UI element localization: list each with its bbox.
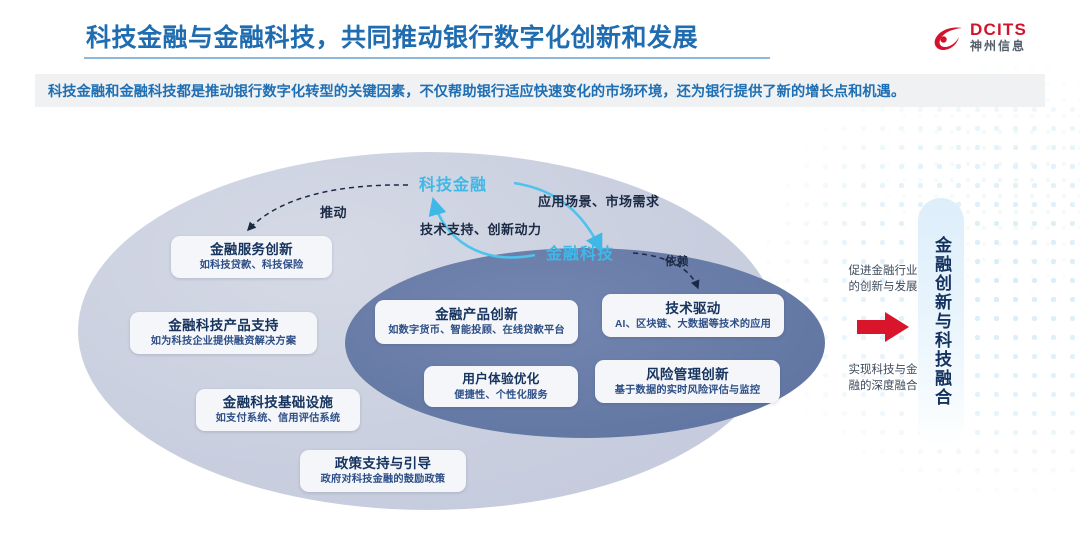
card-subtitle: 如科技贷款、科技保险 bbox=[200, 259, 304, 273]
label-tech-finance: 科技金融 bbox=[419, 171, 487, 195]
card-subtitle: 政府对科技金融的鼓励政策 bbox=[321, 473, 446, 487]
logo-text: DCITS 神州信息 bbox=[970, 20, 1027, 54]
note-promote-innovation: 促进金融行业 的创新与发展 bbox=[840, 263, 926, 295]
red-arrow-icon bbox=[855, 310, 911, 344]
card-title: 用户体验优化 bbox=[462, 371, 539, 388]
vertical-title-fusion: 金融创新与科技融合 bbox=[926, 236, 956, 407]
card-policy-support[interactable]: 政策支持与引导 政府对科技金融的鼓励政策 bbox=[300, 450, 466, 492]
card-subtitle: 如数字货币、智能投顾、在线贷款平台 bbox=[388, 324, 565, 338]
card-subtitle: 如为科技企业提供融资解决方案 bbox=[151, 335, 296, 349]
label-push: 推动 bbox=[320, 202, 347, 221]
card-title: 金融服务创新 bbox=[210, 241, 293, 258]
subtitle-text: 科技金融和金融科技都是推动银行数字化转型的关键因素，不仅帮助银行适应快速变化的市… bbox=[48, 81, 1038, 101]
card-fintech-infrastructure[interactable]: 金融科技基础设施 如支付系统、信用评估系统 bbox=[196, 389, 360, 431]
card-financial-service-innovation[interactable]: 金融服务创新 如科技贷款、科技保险 bbox=[171, 236, 332, 278]
card-title: 金融科技产品支持 bbox=[168, 317, 278, 334]
card-financial-product-innovation[interactable]: 金融产品创新 如数字货币、智能投顾、在线贷款平台 bbox=[375, 300, 578, 344]
card-title: 技术驱动 bbox=[665, 300, 720, 317]
card-fintech-product-support[interactable]: 金融科技产品支持 如为科技企业提供融资解决方案 bbox=[130, 312, 317, 354]
label-fintech: 金融科技 bbox=[546, 240, 614, 264]
label-tech-support: 技术支持、创新动力 bbox=[420, 219, 542, 238]
card-title: 风险管理创新 bbox=[646, 366, 729, 383]
card-risk-management-innovation[interactable]: 风险管理创新 基于数据的实时风险评估与监控 bbox=[595, 360, 780, 403]
card-title: 金融产品创新 bbox=[435, 306, 518, 323]
note-deep-integration: 实现科技与金 融的深度融合 bbox=[840, 362, 926, 394]
card-subtitle: AI、区块链、大数据等技术的应用 bbox=[615, 318, 771, 332]
card-subtitle: 基于数据的实时风险评估与监控 bbox=[615, 384, 760, 398]
label-scene-demand: 应用场景、市场需求 bbox=[538, 191, 660, 210]
logo-cn-label: 神州信息 bbox=[970, 39, 1027, 54]
logo-swoosh-icon bbox=[932, 22, 966, 56]
slide-canvas: 科技金融与金融科技，共同推动银行数字化创新和发展 DCITS 神州信息 科技金融… bbox=[0, 0, 1080, 540]
card-title: 金融科技基础设施 bbox=[223, 394, 333, 411]
card-subtitle: 如支付系统、信用评估系统 bbox=[216, 412, 341, 426]
card-title: 政策支持与引导 bbox=[335, 455, 432, 472]
card-user-experience-optimization[interactable]: 用户体验优化 便捷性、个性化服务 bbox=[424, 366, 578, 407]
brand-logo: DCITS 神州信息 bbox=[932, 18, 1052, 62]
title-underline bbox=[84, 57, 770, 59]
page-title: 科技金融与金融科技，共同推动银行数字化创新和发展 bbox=[86, 18, 698, 54]
card-subtitle: 便捷性、个性化服务 bbox=[454, 389, 548, 403]
card-technology-driven[interactable]: 技术驱动 AI、区块链、大数据等技术的应用 bbox=[602, 294, 784, 337]
logo-en-label: DCITS bbox=[970, 20, 1027, 39]
label-depend: 依赖 bbox=[665, 253, 689, 269]
